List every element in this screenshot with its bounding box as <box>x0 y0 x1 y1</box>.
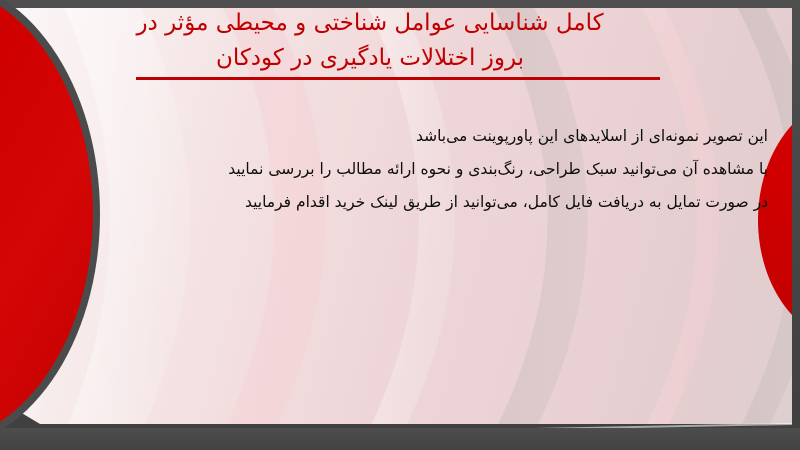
slide-body-line-1: این تصویر نمونه‌ای از اسلایدهای این پاور… <box>228 120 768 153</box>
slide-body-line-2: با مشاهده آن می‌توانید سبک طراحی، رنگ‌بن… <box>228 153 768 186</box>
slide-title-line-2: بروز اختلالات یادگیری در کودکان <box>40 41 700 76</box>
bottom-frame-band <box>0 428 800 450</box>
slide-body-line-3: در صورت تمایل به دریافت فایل کامل، می‌تو… <box>228 186 768 219</box>
slide-title-line-1: کامل شناسایی عوامل شناختی و محیطی مؤثر د… <box>40 6 700 41</box>
slide-body-text: این تصویر نمونه‌ای از اسلایدهای این پاور… <box>228 120 768 219</box>
slide-canvas: کامل شناسایی عوامل شناختی و محیطی مؤثر د… <box>0 0 800 450</box>
slide-title: کامل شناسایی عوامل شناختی و محیطی مؤثر د… <box>40 6 700 76</box>
title-underline-rule <box>136 77 660 80</box>
